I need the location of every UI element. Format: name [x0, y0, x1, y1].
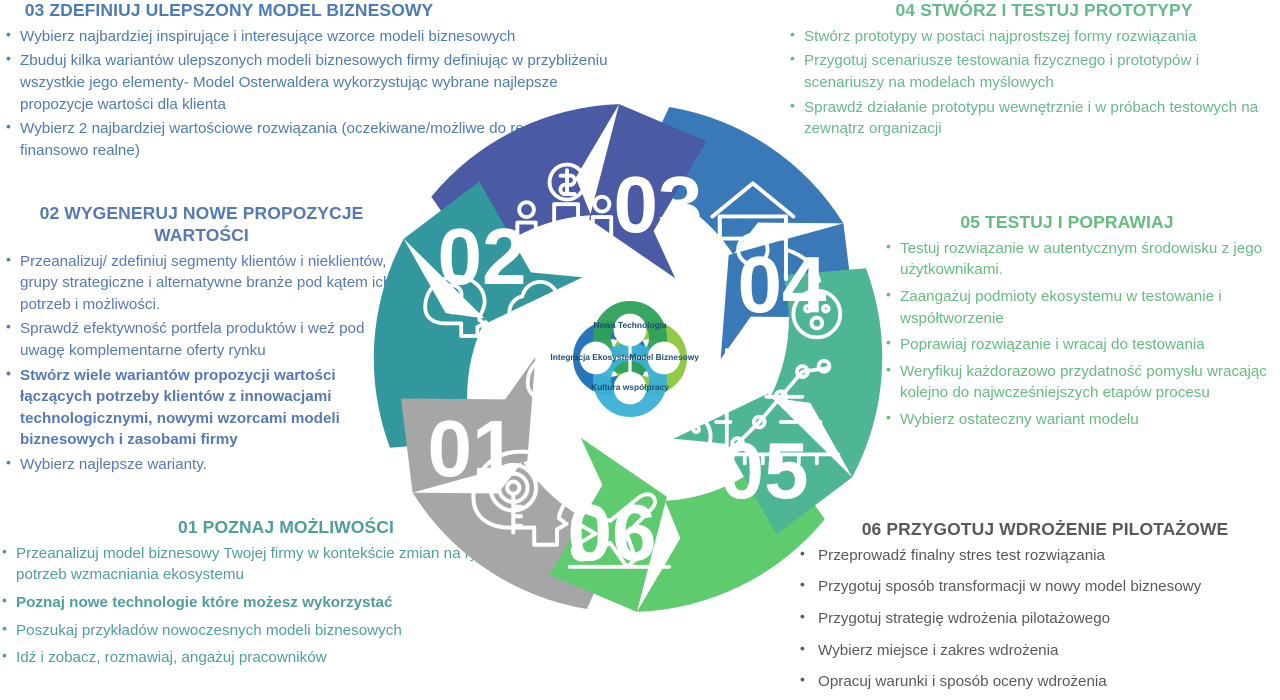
list-item: Wybierz miejsce i zakres wdrożenia: [790, 640, 1280, 662]
process-cycle-wheel: 03 02 01 06 05 04: [358, 88, 898, 628]
section-03-title: 03 ZDEFINIUJ ULEPSZONY MODEL BIZNESOWY: [4, 0, 634, 22]
list-item: Testuj rozwiązanie w autentycznym środow…: [884, 238, 1280, 281]
list-item: Wybierz najbardziej inspirujące i intere…: [4, 26, 634, 48]
section-02-title: 02 WYGENERUJ NOWE PROPOZYCJE WARTOŚCI: [4, 203, 399, 247]
infographic-canvas: 03 ZDEFINIUJ ULEPSZONY MODEL BIZNESOWY W…: [0, 0, 1280, 700]
list-item: Opracuj warunki i sposób oceny wdrożenia: [790, 671, 1280, 693]
list-item: Przeanalizuj/ zdefiniuj segmenty klientó…: [4, 251, 399, 316]
list-item: Stwórz prototypy w postaci najprostszej …: [788, 26, 1280, 48]
section-05-title: 05 TESTUJ I POPRAWIAJ: [884, 212, 1280, 234]
segment-06-number: 06: [568, 488, 657, 577]
section-05-block: 05 TESTUJ I POPRAWIAJ Testuj rozwiązanie…: [884, 212, 1280, 436]
segment-03-number: 03: [614, 160, 703, 249]
list-item: Zaangażuj podmioty ekosystemu w testowan…: [884, 286, 1280, 329]
section-05-bullets: Testuj rozwiązanie w autentycznym środow…: [884, 238, 1280, 431]
list-item: Poprawiaj rozwiązanie i wracaj do testow…: [884, 334, 1280, 356]
hub-node-top-label: Nowa Technologia: [593, 320, 667, 330]
list-item: Weryfikuj każdorazowo przydatność pomysł…: [884, 361, 1280, 404]
section-02-block: 02 WYGENERUJ NOWE PROPOZYCJE WARTOŚCI Pr…: [4, 203, 399, 479]
list-item: Stwórz wiele wariantów propozycji wartoś…: [4, 365, 399, 451]
segment-04-number: 04: [738, 240, 827, 329]
hub-node-left-label: Integracja Ekosystemu: [550, 352, 641, 362]
list-item: Idź i zobacz, rozmawiaj, angażuj pracown…: [0, 647, 512, 669]
list-item: Wybierz najlepsze warianty.: [4, 454, 399, 476]
section-02-bullets: Przeanalizuj/ zdefiniuj segmenty klientó…: [4, 251, 399, 476]
list-item: Sprawdź efektywność portfela produktów i…: [4, 318, 399, 361]
section-04-title: 04 STWÓRZ I TESTUJ PROTOTYPY: [788, 0, 1280, 22]
list-item: Wybierz ostateczny wariant modelu: [884, 409, 1280, 431]
hub-node-bottom-label: Kultura współpracy: [591, 382, 669, 392]
